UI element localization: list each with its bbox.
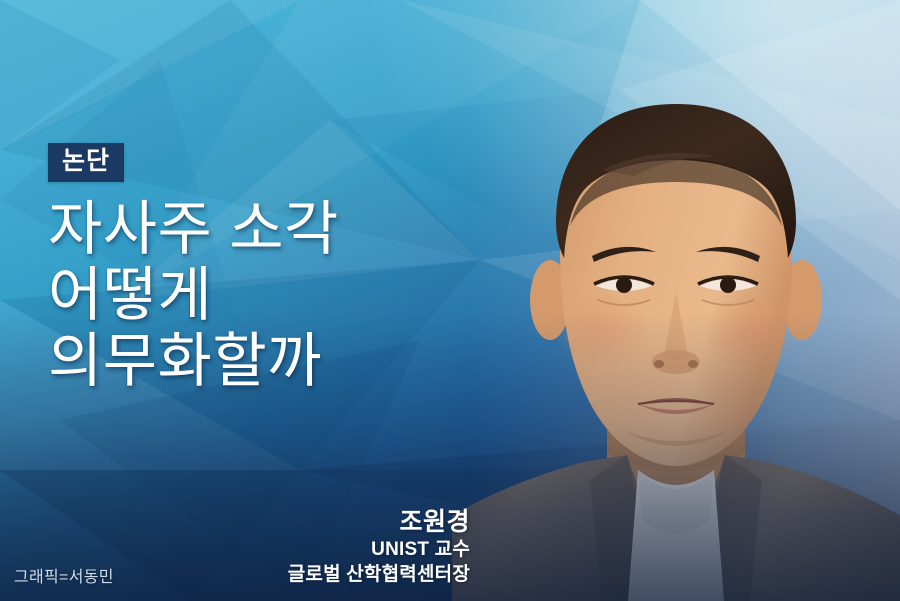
headline: 자사주 소각 어떻게 의무화할까 (48, 196, 468, 394)
headline-line-3: 의무화할까 (48, 328, 468, 394)
headline-line-1: 자사주 소각 (48, 196, 468, 262)
headline-line-2: 어떻게 (48, 262, 468, 328)
opinion-graphic-card: 논단 자사주 소각 어떻게 의무화할까 조원경 UNIST 교수 글로벌 산학협… (0, 0, 900, 601)
byline-name: 조원경 (288, 506, 470, 538)
kicker-label: 논단 (62, 147, 110, 175)
byline: 조원경 UNIST 교수 글로벌 산학협력센터장 (288, 506, 470, 587)
byline-role: UNIST 교수 (288, 538, 470, 562)
kicker-badge: 논단 (48, 143, 124, 182)
graphic-credit: 그래픽=서동민 (14, 563, 114, 587)
byline-organization: 글로벌 산학협력센터장 (288, 563, 470, 587)
